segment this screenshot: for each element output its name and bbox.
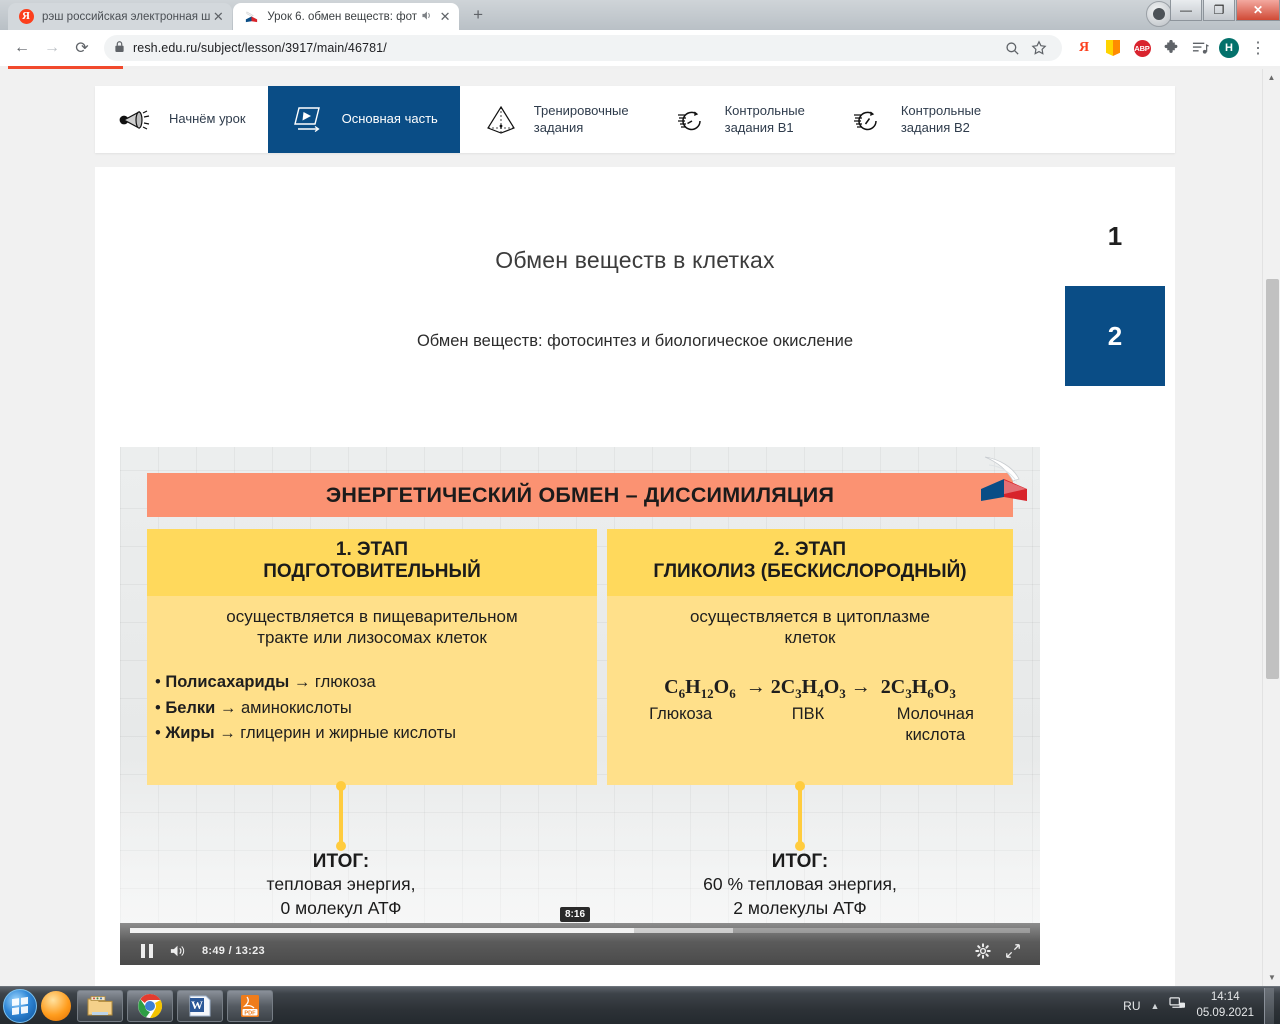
- projector-icon: [117, 101, 155, 139]
- page-viewport: Начнём урок Основная часть: [0, 69, 1280, 986]
- minimize-button[interactable]: —: [1170, 0, 1202, 21]
- stage-2-card: 2. ЭТАП ГЛИКОЛИЗ (БЕСКИСЛОРОДНЫЙ) осущес…: [607, 529, 1013, 785]
- video-time-label: 8:49 / 13:23: [202, 945, 265, 957]
- clock[interactable]: 14:14 05.09.2021: [1196, 990, 1254, 1021]
- chrome-menu-button[interactable]: ⋮: [1244, 34, 1272, 62]
- tab-kontrolnye-zadaniya-v1-label: Контрольные задания В1: [725, 103, 805, 136]
- stage-1-lead: осуществляется в пищеварительном тракте …: [147, 596, 597, 649]
- volume-icon[interactable]: [162, 939, 192, 963]
- scroll-up-arrow[interactable]: ▲: [1263, 69, 1280, 86]
- seek-hover-timestamp: 8:16: [560, 907, 590, 922]
- star-icon[interactable]: [1026, 35, 1052, 61]
- slide-thumbnail-2[interactable]: 2: [1065, 286, 1165, 386]
- resh-icon: [243, 9, 259, 25]
- yandex-icon: Я: [18, 9, 34, 25]
- page-subtitle: Обмен веществ: фотосинтез и биологическо…: [95, 332, 1175, 351]
- stage-1-result: ИТОГ: тепловая энергия, 0 молекул АТФ: [221, 851, 461, 920]
- formula-name-pvk: ПВК: [744, 704, 871, 745]
- stage-2-connector: [798, 785, 802, 847]
- stage-2-heading: 2. ЭТАП ГЛИКОЛИЗ (БЕСКИСЛОРОДНЫЙ): [607, 529, 1013, 596]
- stage-1-result-title: ИТОГ:: [221, 851, 461, 873]
- slide-thumbnail-1[interactable]: 1: [1065, 186, 1165, 286]
- browser-tab-1-title: рэш российская электронная ш: [42, 11, 210, 23]
- chrome-browser-window: Я рэш российская электронная ш ✕ Урок 6.…: [0, 0, 1280, 986]
- tab-nachnem-urok[interactable]: Начнём урок: [95, 86, 268, 153]
- lesson-section-tabs: Начнём урок Основная часть: [95, 86, 1175, 153]
- stage-1-connector: [339, 785, 343, 847]
- clock-time: 14:14: [1196, 990, 1254, 1006]
- stage-2-lead: осуществляется в цитоплазме клеток: [607, 596, 1013, 649]
- fullscreen-icon[interactable]: [998, 939, 1028, 963]
- close-window-button[interactable]: ✕: [1236, 0, 1280, 21]
- browser-tab-1[interactable]: Я рэш российская электронная ш ✕: [8, 3, 232, 30]
- lesson-article: Обмен веществ в клетках Обмен веществ: ф…: [95, 167, 1175, 986]
- file-explorer-icon[interactable]: [77, 990, 123, 1022]
- input-language-indicator[interactable]: RU: [1123, 999, 1140, 1013]
- play-slide-icon: [290, 101, 328, 139]
- gnome-orb-icon[interactable]: [41, 991, 71, 1021]
- maximize-button[interactable]: ❐: [1203, 0, 1235, 21]
- window-caption-controls: — ❐ ✕: [1169, 0, 1280, 22]
- back-button[interactable]: ←: [8, 34, 36, 62]
- video-slide-frame: ЭНЕРГЕТИЧЕСКИЙ ОБМЕН – ДИССИМИЛЯЦИЯ: [120, 447, 1040, 965]
- video-controls-row: 8:49 / 13:23: [120, 937, 1040, 965]
- bookmark-flag-icon[interactable]: [1100, 35, 1126, 61]
- stage-2-result: ИТОГ: 60 % тепловая энергия, 2 молекулы …: [680, 851, 920, 920]
- reload-button[interactable]: ⟳: [68, 34, 96, 62]
- glycolysis-formula: C6H12O6 → 2C3H4O3 → 2C3H6O3: [607, 676, 1013, 702]
- tab-audio-playing-icon[interactable]: [420, 9, 434, 25]
- stopwatch-icon: [849, 101, 887, 139]
- slide-thumbnail-list: 1 2: [1065, 186, 1165, 386]
- show-desktop-button[interactable]: [1264, 988, 1274, 1024]
- tab-trenirovochnye-zadaniya-label: Тренировочные задания: [534, 103, 629, 136]
- tray-expand-caret[interactable]: ▲: [1151, 1001, 1160, 1011]
- slide-banner: ЭНЕРГЕТИЧЕСКИЙ ОБМЕН – ДИССИМИЛЯЦИЯ: [147, 473, 1013, 517]
- profile-avatar[interactable]: H: [1216, 35, 1242, 61]
- stage-1-card: 1. ЭТАП ПОДГОТОВИТЕЛЬНЫЙ осуществляется …: [147, 529, 597, 785]
- pause-icon[interactable]: [132, 939, 162, 963]
- page-scrollbar[interactable]: ▲ ▼: [1262, 69, 1280, 986]
- system-tray: RU ▲ 14:14 05.09.2021: [1123, 988, 1280, 1024]
- stage-2-body: осуществляется в цитоплазме клеток C6H12…: [607, 596, 1013, 746]
- stage-2-result-title: ИТОГ:: [680, 851, 920, 873]
- formula-compound-names: Глюкоза ПВК Молочная кислота: [607, 702, 1013, 745]
- list-item: • Полисахариды → глюкоза: [155, 670, 597, 696]
- tab-kontrolnye-zadaniya-v2-label: Контрольные задания В2: [901, 103, 981, 136]
- browser-tab-2[interactable]: Урок 6. обмен веществ: фот ✕: [233, 3, 459, 30]
- address-bar-url: resh.edu.ru/subject/lesson/3917/main/467…: [133, 41, 387, 55]
- browser-tab-2-title: Урок 6. обмен веществ: фот: [267, 11, 417, 23]
- tab-nachnem-urok-label: Начнём урок: [169, 111, 246, 127]
- svg-text:W: W: [191, 998, 203, 1012]
- video-controls-bar: 8:49 / 13:23: [120, 923, 1040, 965]
- lock-icon: [114, 40, 125, 56]
- yandex-extension-icon[interactable]: Я: [1071, 35, 1097, 61]
- video-player[interactable]: ЭНЕРГЕТИЧЕСКИЙ ОБМЕН – ДИССИМИЛЯЦИЯ: [120, 447, 1040, 965]
- browser-toolbar: ← → ⟳ resh.edu.ru/subject/lesson/3917/ma…: [0, 30, 1280, 66]
- windows-taskbar: W PDF RU ▲ 14:14 05.09.2021: [0, 986, 1280, 1024]
- video-seek-bar[interactable]: [130, 928, 1030, 933]
- close-tab-1-icon[interactable]: ✕: [210, 10, 226, 24]
- resh-book-feather-logo: [973, 449, 1035, 511]
- search-icon[interactable]: [999, 35, 1025, 61]
- stage-1-bullets: • Полисахариды → глюкоза • Белки → амино…: [155, 670, 597, 747]
- tab-osnovnaya-chast[interactable]: Основная часть: [268, 86, 460, 153]
- formula-name-glucose: Глюкоза: [617, 704, 744, 745]
- video-played-range: [130, 928, 634, 933]
- pyramid-icon: [482, 101, 520, 139]
- reading-list-icon[interactable]: [1187, 35, 1213, 61]
- tab-kontrolnye-zadaniya-v1[interactable]: Контрольные задания В1: [651, 86, 827, 153]
- pdf-icon[interactable]: PDF: [227, 990, 273, 1022]
- formula-name-lactic-acid: Молочная кислота: [872, 704, 999, 745]
- extensions-puzzle-icon[interactable]: [1158, 35, 1184, 61]
- windows-start-orb[interactable]: [3, 989, 37, 1023]
- word-icon[interactable]: W: [177, 990, 223, 1022]
- windows-logo-icon: [12, 996, 28, 1014]
- tab-kontrolnye-zadaniya-v2[interactable]: Контрольные задания В2: [827, 86, 1003, 153]
- stage-1-body: осуществляется в пищеварительном тракте …: [147, 596, 597, 747]
- tab-osnovnaya-chast-label: Основная часть: [342, 111, 438, 127]
- stopwatch-icon: [673, 101, 711, 139]
- stage-1-result-body: тепловая энергия, 0 молекул АТФ: [221, 873, 461, 920]
- page-canvas: Начнём урок Основная часть: [0, 69, 1262, 986]
- gear-icon[interactable]: [968, 939, 998, 963]
- address-bar[interactable]: resh.edu.ru/subject/lesson/3917/main/467…: [104, 35, 1062, 61]
- scroll-down-arrow[interactable]: ▼: [1263, 969, 1280, 986]
- tab-trenirovochnye-zadaniya[interactable]: Тренировочные задания: [460, 86, 651, 153]
- stage-1-heading: 1. ЭТАП ПОДГОТОВИТЕЛЬНЫЙ: [147, 529, 597, 596]
- new-tab-button[interactable]: +: [464, 1, 492, 29]
- network-icon[interactable]: [1169, 996, 1186, 1016]
- svg-text:PDF: PDF: [244, 1010, 256, 1016]
- forward-button: →: [38, 34, 66, 62]
- close-tab-2-icon[interactable]: ✕: [437, 10, 453, 24]
- browser-tab-strip: Я рэш российская электронная ш ✕ Урок 6.…: [0, 0, 1280, 30]
- scrollbar-thumb[interactable]: [1266, 279, 1279, 679]
- adblock-plus-icon[interactable]: ABP: [1129, 35, 1155, 61]
- clock-date: 05.09.2021: [1196, 1006, 1254, 1022]
- page-title: Обмен веществ в клетках: [95, 247, 1175, 274]
- list-item: • Белки → аминокислоты: [155, 696, 597, 722]
- stage-2-result-body: 60 % тепловая энергия, 2 молекулы АТФ: [680, 873, 920, 920]
- chrome-icon[interactable]: [127, 990, 173, 1022]
- list-item: • Жиры → глицерин и жирные кислоты: [155, 721, 597, 747]
